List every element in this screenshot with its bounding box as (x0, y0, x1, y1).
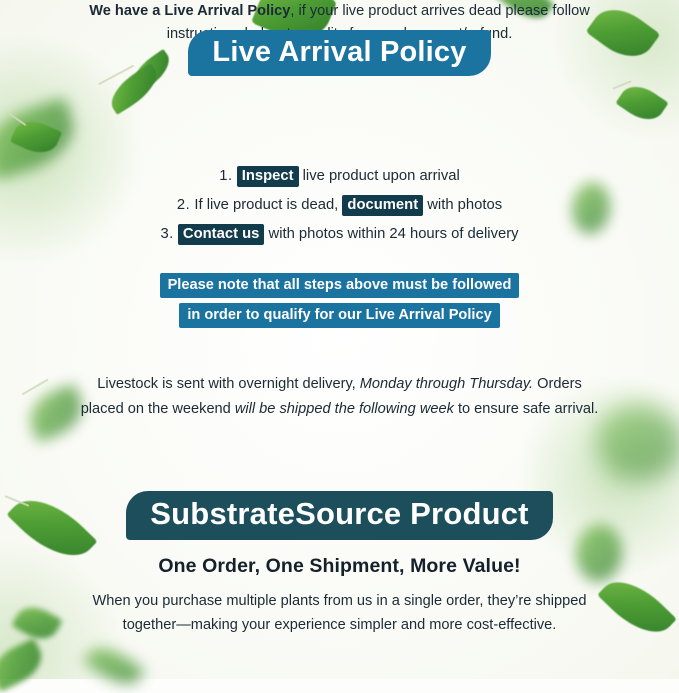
value-paragraph: When you purchase multiple plants from u… (78, 590, 602, 637)
value-heading-row: One Order, One Shipment, More Value! (0, 555, 679, 578)
value-heading: One Order, One Shipment, More Value! (0, 555, 679, 578)
list-item: 1. Inspect live product upon arrival (0, 162, 679, 191)
value-paragraph-row: When you purchase multiple plants from u… (0, 590, 679, 637)
substrate-source-product-banner: SubstrateSource Product (126, 491, 552, 540)
live-arrival-banner-row: Live Arrival Policy (0, 30, 679, 76)
note-row: Please note that all steps above must be… (0, 273, 679, 298)
shipping-italic-2: will be shipped the following week (235, 401, 454, 417)
list-item: 3. Contact us with photos within 24 hour… (0, 220, 679, 249)
step-after-text: with photos within 24 hours of delivery (264, 226, 518, 242)
step-number: 2. (177, 197, 190, 213)
list-item: 2. If live product is dead, document wit… (0, 191, 679, 220)
note-row: in order to qualify for our Live Arrival… (0, 303, 679, 328)
step-after-text: live product upon arrival (299, 168, 460, 184)
step-highlight-tag: Inspect (237, 166, 299, 187)
shipping-text-3: to ensure safe arrival. (454, 401, 598, 417)
step-highlight-tag: document (342, 195, 423, 216)
note-line-2: in order to qualify for our Live Arrival… (179, 303, 499, 328)
shipping-text-1: Livestock is sent with overnight deliver… (97, 376, 360, 392)
step-highlight-tag: Contact us (178, 224, 264, 245)
policy-steps-list: 1. Inspect live product upon arrival 2. … (0, 162, 679, 249)
shipping-italic-1: Monday through Thursday. (360, 376, 533, 392)
step-after-text: with photos (423, 197, 502, 213)
step-number: 1. (219, 168, 232, 184)
step-before-text: If live product is dead, (190, 197, 342, 213)
shipping-paragraph: Livestock is sent with overnight deliver… (80, 372, 600, 422)
step-number: 3. (160, 226, 173, 242)
policy-note-block: Please note that all steps above must be… (0, 273, 679, 328)
note-line-1: Please note that all steps above must be… (160, 273, 520, 298)
intro-strong-text: We have a Live Arrival Policy (89, 3, 290, 19)
live-arrival-policy-banner: Live Arrival Policy (188, 30, 490, 76)
shipping-paragraph-row: Livestock is sent with overnight deliver… (0, 372, 679, 422)
substrate-source-banner-row: SubstrateSource Product (0, 491, 679, 540)
